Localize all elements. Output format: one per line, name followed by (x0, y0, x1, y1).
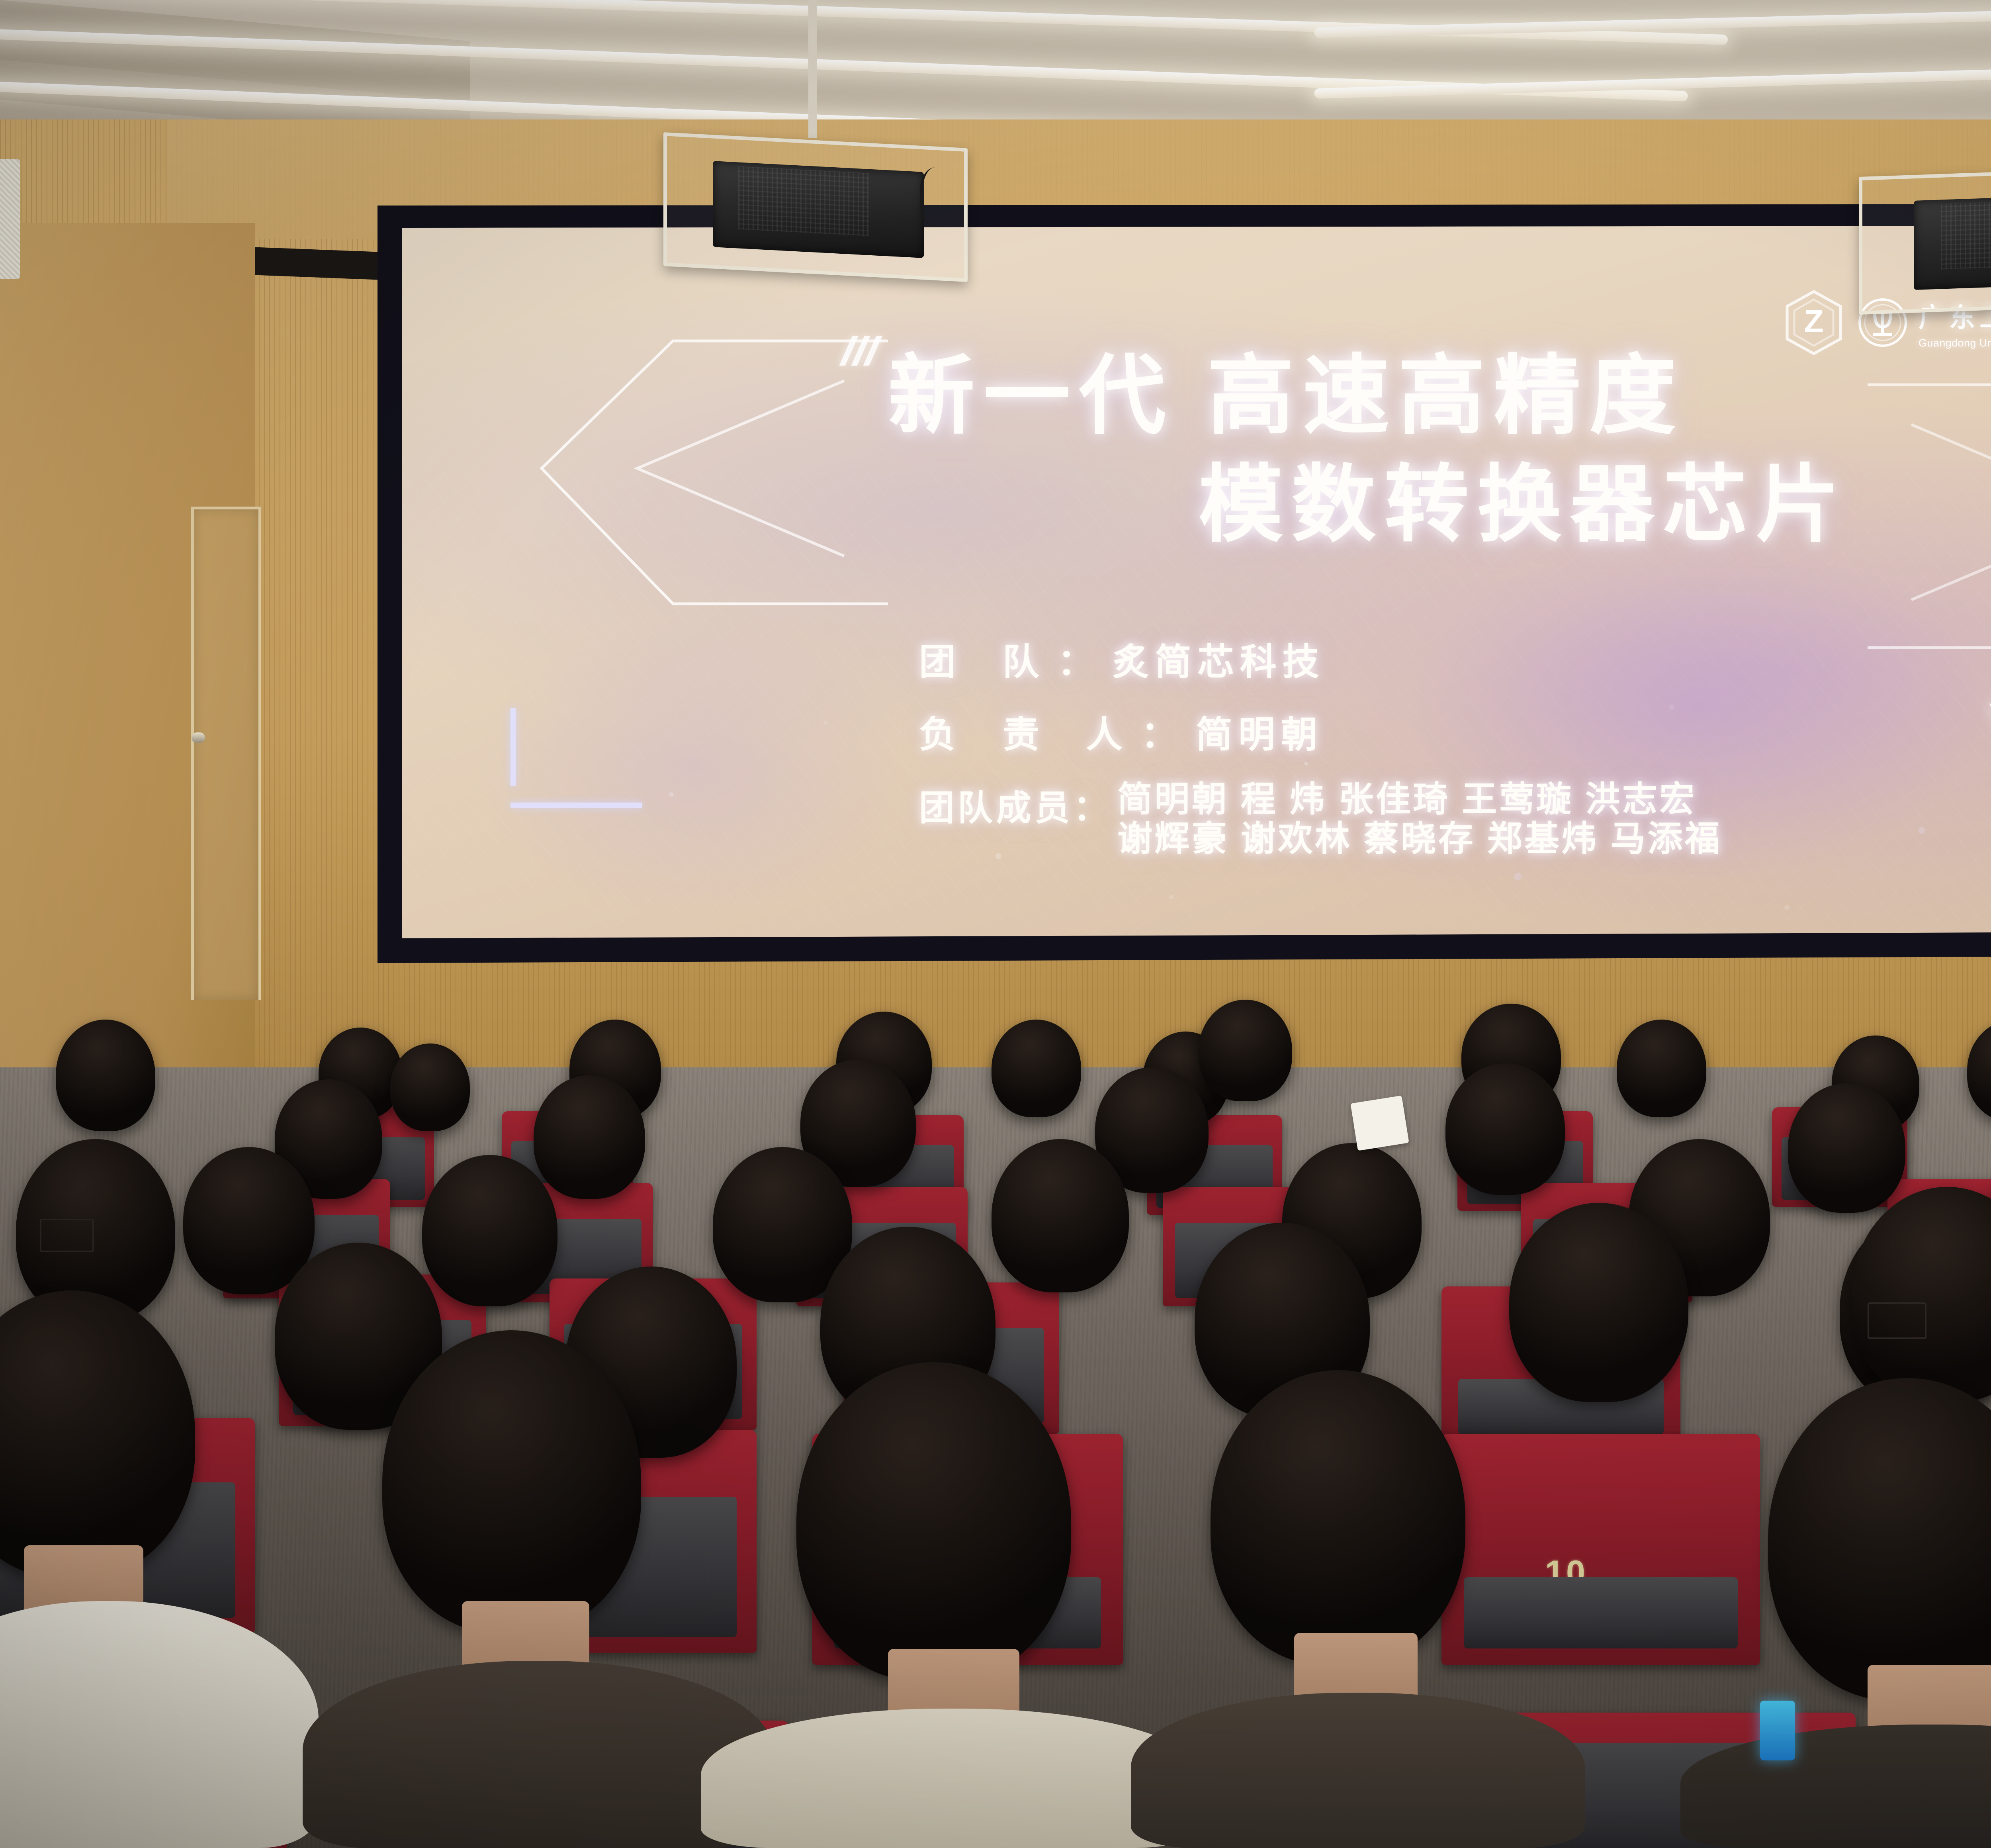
projector-cable (920, 167, 958, 227)
watermark-letter-y: Y (1987, 675, 1991, 813)
team-label: 团 队： (919, 642, 1113, 683)
audience-member (390, 1043, 470, 1131)
audience-shoulders (701, 1709, 1203, 1848)
slide-title-line-1: 新一代 高速高精度 (888, 353, 1685, 440)
side-door-left[interactable] (191, 507, 261, 1000)
slash-marks-left (846, 336, 876, 366)
audience-member (992, 1139, 1129, 1292)
members-label: 团队成员： (919, 780, 1112, 830)
hexagon-z-logo-icon: Z (1784, 289, 1844, 356)
projection-screen: 新一代 高速高精度 模数转换器芯片 团 队：炙简芯科技 负 责 人：简明朝 团队… (402, 225, 1991, 938)
audience-member-foreground (1211, 1370, 1465, 1665)
audience-member-foreground (382, 1330, 641, 1633)
audience-shoulders (1131, 1693, 1585, 1848)
audience-phone-screen (1760, 1701, 1795, 1760)
slide-title-line-2: 模数转换器芯片 (1199, 462, 1848, 547)
corner-bracket-icon (510, 708, 642, 808)
audience-member (1199, 1000, 1292, 1101)
audience-member (534, 1075, 645, 1199)
members-line-2: 谢辉豪 谢欢林 蔡晓存 郑基炜 马添福 (1117, 819, 1722, 859)
audience-member (992, 1020, 1081, 1117)
projector-left (713, 161, 924, 258)
audience-member (422, 1155, 557, 1306)
lecture-hall-photo: 新一代 高速高精度 模数转换器芯片 团 队：炙简芯科技 负 责 人：简明朝 团队… (0, 0, 1991, 1848)
auditorium-seat-10b: 10 (1441, 1434, 1760, 1665)
audience-member (1617, 1020, 1706, 1117)
audience-member (1509, 1203, 1688, 1402)
slide-meta-row-leader: 负 责 人：简明朝 (919, 705, 1323, 758)
audience-paper-sheet (1350, 1096, 1409, 1151)
projector-vent (1941, 199, 1991, 269)
svg-text:Z: Z (1804, 303, 1824, 339)
door-handle-icon[interactable] (192, 732, 205, 743)
audience-member-foreground (796, 1362, 1071, 1681)
chevron-bracket-left (522, 329, 912, 616)
leader-value: 简明朝 (1196, 715, 1323, 755)
glasses-icon (40, 1219, 94, 1252)
leader-label: 负 责 人： (919, 715, 1196, 755)
slide-meta-row-members: 团队成员： 简明朝 程 炜 张佳琦 王莺璇 洪志宏 谢辉豪 谢欢林 蔡晓存 郑基… (919, 780, 1722, 858)
glasses-icon (1868, 1302, 1926, 1339)
projector-mount-rod (808, 0, 817, 138)
wall-acoustic-grille (0, 159, 20, 279)
slide-meta-row-team: 团 队：炙简芯科技 (919, 632, 1325, 685)
audience-member (183, 1147, 315, 1294)
audience-member (56, 1020, 155, 1131)
team-value: 炙简芯科技 (1113, 642, 1325, 683)
audience-member (1445, 1063, 1565, 1195)
audience-member (1788, 1083, 1905, 1213)
projector-right (1914, 193, 1991, 290)
university-name-en: Guangdong University of Technology (1919, 337, 1991, 349)
members-line-1: 简明朝 程 炜 张佳琦 王莺璇 洪志宏 (1117, 780, 1722, 819)
projector-vent (738, 166, 869, 236)
